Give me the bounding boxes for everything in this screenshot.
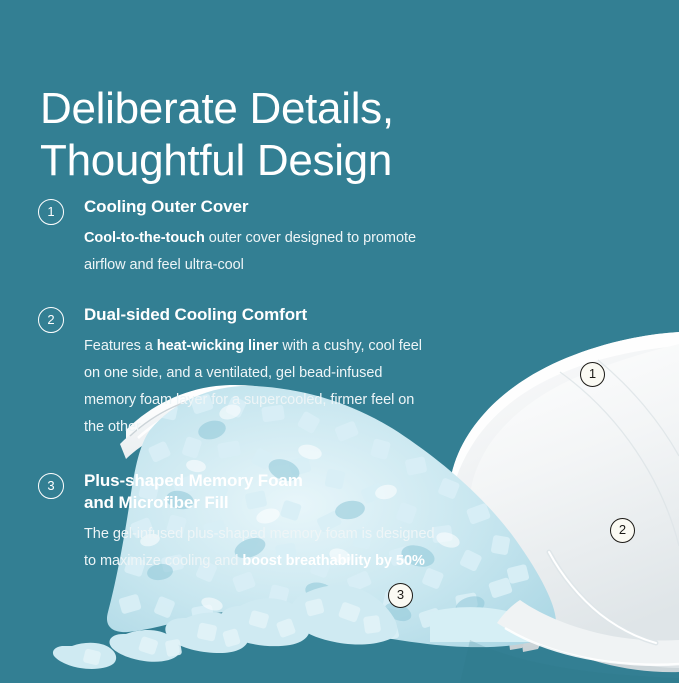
feature-number-badge-1: 1: [38, 199, 64, 225]
feature-title-3-line-2: and Microfiber Fill: [84, 493, 229, 512]
feature-body-2: Features a heat-wicking liner with a cus…: [84, 333, 438, 440]
feature-title-1: Cooling Outer Cover: [84, 196, 438, 218]
pillow-bottom-lip: [470, 600, 679, 683]
zipper-track: [549, 552, 656, 643]
photo-callout-badge-1[interactable]: 1: [580, 362, 605, 387]
feature-title-3: Plus-shaped Memory Foamand Microfiber Fi…: [84, 470, 438, 514]
feature-body-1-bold: Cool-to-the-touch: [84, 230, 205, 246]
spilled-foam-chunks: [83, 598, 382, 666]
feature-item-cooling-outer-cover: 1 Cooling Outer Cover Cool-to-the-touch …: [38, 196, 438, 278]
spilled-foam: [53, 585, 397, 669]
headline-line-2: Thoughtful Design: [40, 135, 510, 186]
feature-number-badge-2: 2: [38, 307, 64, 333]
feature-body-3-bold: boost breathability by 50%: [242, 553, 424, 569]
feature-list: 1 Cooling Outer Cover Cool-to-the-touch …: [38, 196, 438, 575]
feature-body-1: Cool-to-the-touch outer cover designed t…: [84, 225, 438, 279]
feature-body-2-pre: Features a: [84, 338, 157, 354]
feature-body-3: The gel-infused plus-shaped memory foam …: [84, 521, 438, 575]
feature-item-plus-shaped-memory-foam: 3 Plus-shaped Memory Foamand Microfiber …: [38, 470, 438, 574]
headline-line-1: Deliberate Details,: [40, 83, 510, 134]
product-feature-infographic: Deliberate Details, Thoughtful Design 1 …: [0, 0, 679, 683]
foam-bottom-edge: [430, 607, 556, 642]
feature-item-dual-sided-cooling-comfort: 2 Dual-sided Cooling Comfort Features a …: [38, 304, 438, 440]
feature-number-badge-3: 3: [38, 473, 64, 499]
feature-title-3-line-1: Plus-shaped Memory Foam: [84, 471, 303, 490]
photo-callout-badge-3[interactable]: 3: [388, 583, 413, 608]
pillow-outer-cover: [449, 332, 679, 672]
page-title: Deliberate Details, Thoughtful Design: [40, 83, 510, 186]
pillow-cover: [449, 298, 679, 663]
feature-body-2-bold: heat-wicking liner: [157, 338, 279, 354]
photo-callout-badge-2[interactable]: 2: [610, 518, 635, 543]
feature-title-2: Dual-sided Cooling Comfort: [84, 304, 438, 326]
